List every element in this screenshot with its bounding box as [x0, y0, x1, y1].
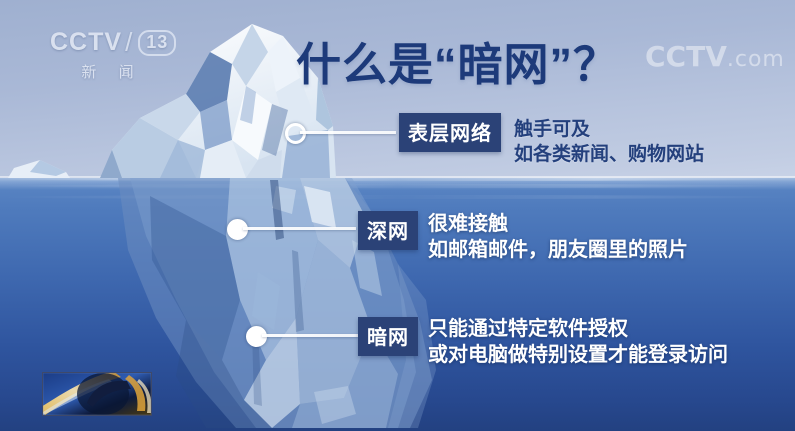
callout-badge-deep-web[interactable]: 深网 [358, 211, 418, 250]
callout-description-line-1: 很难接触 [428, 211, 688, 237]
callout-leader-dark-web [262, 334, 358, 337]
callout-description-line-1: 只能通过特定软件授权 [428, 316, 728, 342]
cctv-logo-row: CCTV / 13 [50, 27, 168, 58]
callout-leader-surface-web [300, 131, 396, 134]
cctv-logo-slash: / [125, 27, 133, 58]
callout-description-line-2: 或对电脑做特别设置才能登录访问 [428, 342, 728, 368]
callout-description-line-1: 触手可及 [514, 117, 704, 142]
corner-thumbnail [42, 372, 152, 416]
thumbnail-artwork [43, 373, 151, 415]
watermark-wordmark: CCTV [645, 40, 727, 73]
callout-description-line-2: 如各类新闻、购物网站 [514, 142, 704, 167]
broadcast-graphic: CCTV / 13 新 闻 什么是“暗网”？ CCTV.com 表层网络触手可及… [0, 0, 795, 431]
cctv-channel-name: 新 闻 [50, 61, 168, 82]
cctv-wordmark: CCTV [50, 28, 122, 57]
callout-description-surface-web: 触手可及如各类新闻、购物网站 [514, 117, 704, 167]
callout-description-deep-web: 很难接触如邮箱邮件，朋友圈里的照片 [428, 211, 688, 264]
page-title: 什么是“暗网”？ [296, 28, 619, 93]
cctv-com-watermark: CCTV.com [645, 40, 785, 73]
cctv-channel-number: 13 [138, 30, 176, 56]
callout-badge-dark-web[interactable]: 暗网 [358, 317, 418, 356]
callout-leader-deep-web [243, 227, 356, 230]
cctv-channel-logo: CCTV / 13 新 闻 [50, 27, 168, 83]
callout-description-dark-web: 只能通过特定软件授权或对电脑做特别设置才能登录访问 [428, 316, 728, 369]
callout-description-line-2: 如邮箱邮件，朋友圈里的照片 [428, 237, 688, 263]
callout-badge-surface-web[interactable]: 表层网络 [399, 113, 501, 152]
watermark-suffix: .com [727, 47, 785, 72]
